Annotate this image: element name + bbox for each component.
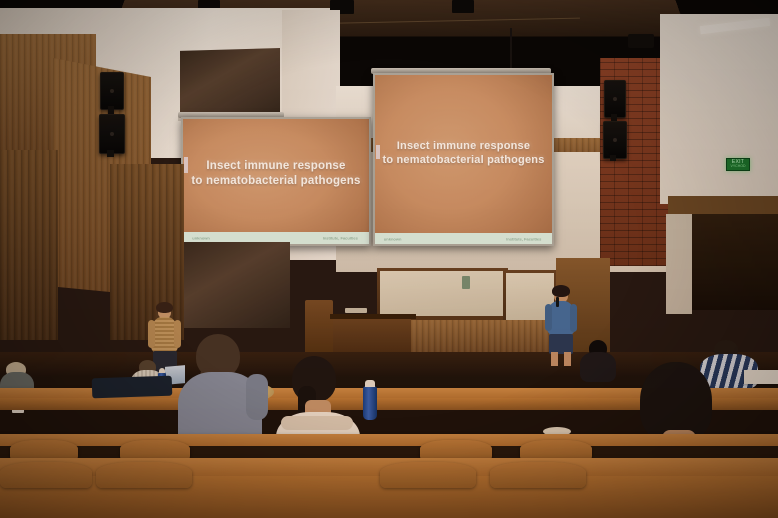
presenter-left-hair bbox=[156, 302, 173, 313]
wall-stage-left-stone bbox=[180, 242, 290, 328]
slide-footer-right-text: Institute, Faculties bbox=[323, 236, 358, 241]
water-bottle-left-cap bbox=[159, 368, 165, 373]
slide-title-left-line2: to nematobacterial pathogens bbox=[183, 174, 369, 189]
front-cabinet-top bbox=[330, 314, 416, 319]
presenter-right-shorts bbox=[549, 334, 573, 354]
speaker-mount-right-upper bbox=[611, 114, 617, 121]
slide-title-left: Insect immune response to nematobacteria… bbox=[183, 159, 369, 188]
seatback-front-c bbox=[380, 462, 476, 488]
lectern bbox=[305, 300, 333, 360]
speaker-mount-left-upper bbox=[108, 106, 114, 114]
wall-right-pier bbox=[666, 214, 692, 314]
screen-surface-right: Insect immune response to nematobacteria… bbox=[375, 75, 552, 244]
presenter-right-arm-right bbox=[570, 304, 577, 332]
slide-footer-right-left-text: unknown bbox=[384, 236, 402, 241]
exit-sign-sublabel: VYCHOD bbox=[727, 165, 749, 169]
presenter-right-hair bbox=[552, 285, 570, 297]
presenter-right-leg-left bbox=[551, 352, 558, 366]
lecture-hall-photo: EXIT VYCHOD Insect immune response to ne… bbox=[0, 0, 778, 518]
presenter-right-arm-left bbox=[545, 304, 552, 331]
seatback-front-b bbox=[96, 462, 192, 488]
papers-upper-right bbox=[744, 370, 778, 384]
doorway-right bbox=[690, 214, 778, 310]
ceiling-speaker-right bbox=[628, 34, 654, 48]
water-bottle-center bbox=[363, 386, 377, 420]
whiteboard-marker-holder bbox=[462, 276, 470, 289]
projection-screen-right: Insect immune response to nematobacteria… bbox=[373, 73, 554, 246]
speaker-mount-right-lower bbox=[610, 155, 616, 161]
audience-white-top-shoulders bbox=[281, 416, 353, 430]
wall-right-upper bbox=[660, 14, 778, 204]
speaker-mount-left-lower bbox=[107, 150, 114, 157]
seatback-front-a bbox=[0, 462, 92, 488]
slide-title-right-line1: Insect immune response bbox=[375, 139, 552, 153]
wall-stage-left-wood bbox=[110, 164, 184, 340]
seatback-front-d bbox=[490, 462, 586, 488]
projection-screen-left: Insect immune response to nematobacteria… bbox=[181, 117, 371, 246]
ceiling-beam-3 bbox=[452, 0, 474, 13]
slide-title-left-line1: Insect immune response bbox=[183, 159, 369, 174]
wall-speaker-left-upper bbox=[100, 72, 124, 110]
desk-papers-front bbox=[345, 308, 367, 313]
screen-surface-left: Insect immune response to nematobacteria… bbox=[183, 119, 369, 244]
microphone bbox=[556, 297, 559, 307]
audience-dark-center-torso bbox=[580, 352, 616, 382]
slide-title-right: Insect immune response to nematobacteria… bbox=[375, 139, 552, 167]
wall-left-wood-c bbox=[0, 150, 58, 340]
desk-row-2-gap bbox=[0, 446, 778, 458]
audience-ponytail-arm bbox=[246, 374, 268, 420]
slide-footer-right-right-text: Institute, Faculties bbox=[506, 236, 541, 241]
exit-sign: EXIT VYCHOD bbox=[726, 158, 750, 171]
presenter-right-leg-right bbox=[564, 352, 571, 366]
wall-speaker-left-lower bbox=[99, 114, 125, 154]
presenter-left-arm-left bbox=[148, 320, 155, 348]
presenter-left-arm-right bbox=[174, 320, 181, 348]
slide-footer-right-screen: unknown Institute, Faculties bbox=[375, 233, 552, 244]
slide-title-right-line2: to nematobacterial pathogens bbox=[375, 153, 552, 167]
wall-speaker-right-lower bbox=[603, 121, 627, 159]
dark-bag bbox=[92, 376, 173, 399]
water-bottle-center-cap bbox=[365, 380, 375, 387]
wall-stone-slab bbox=[180, 48, 280, 120]
wall-speaker-right-upper bbox=[604, 80, 626, 118]
slide-footer-left-text: unknown bbox=[192, 236, 210, 241]
